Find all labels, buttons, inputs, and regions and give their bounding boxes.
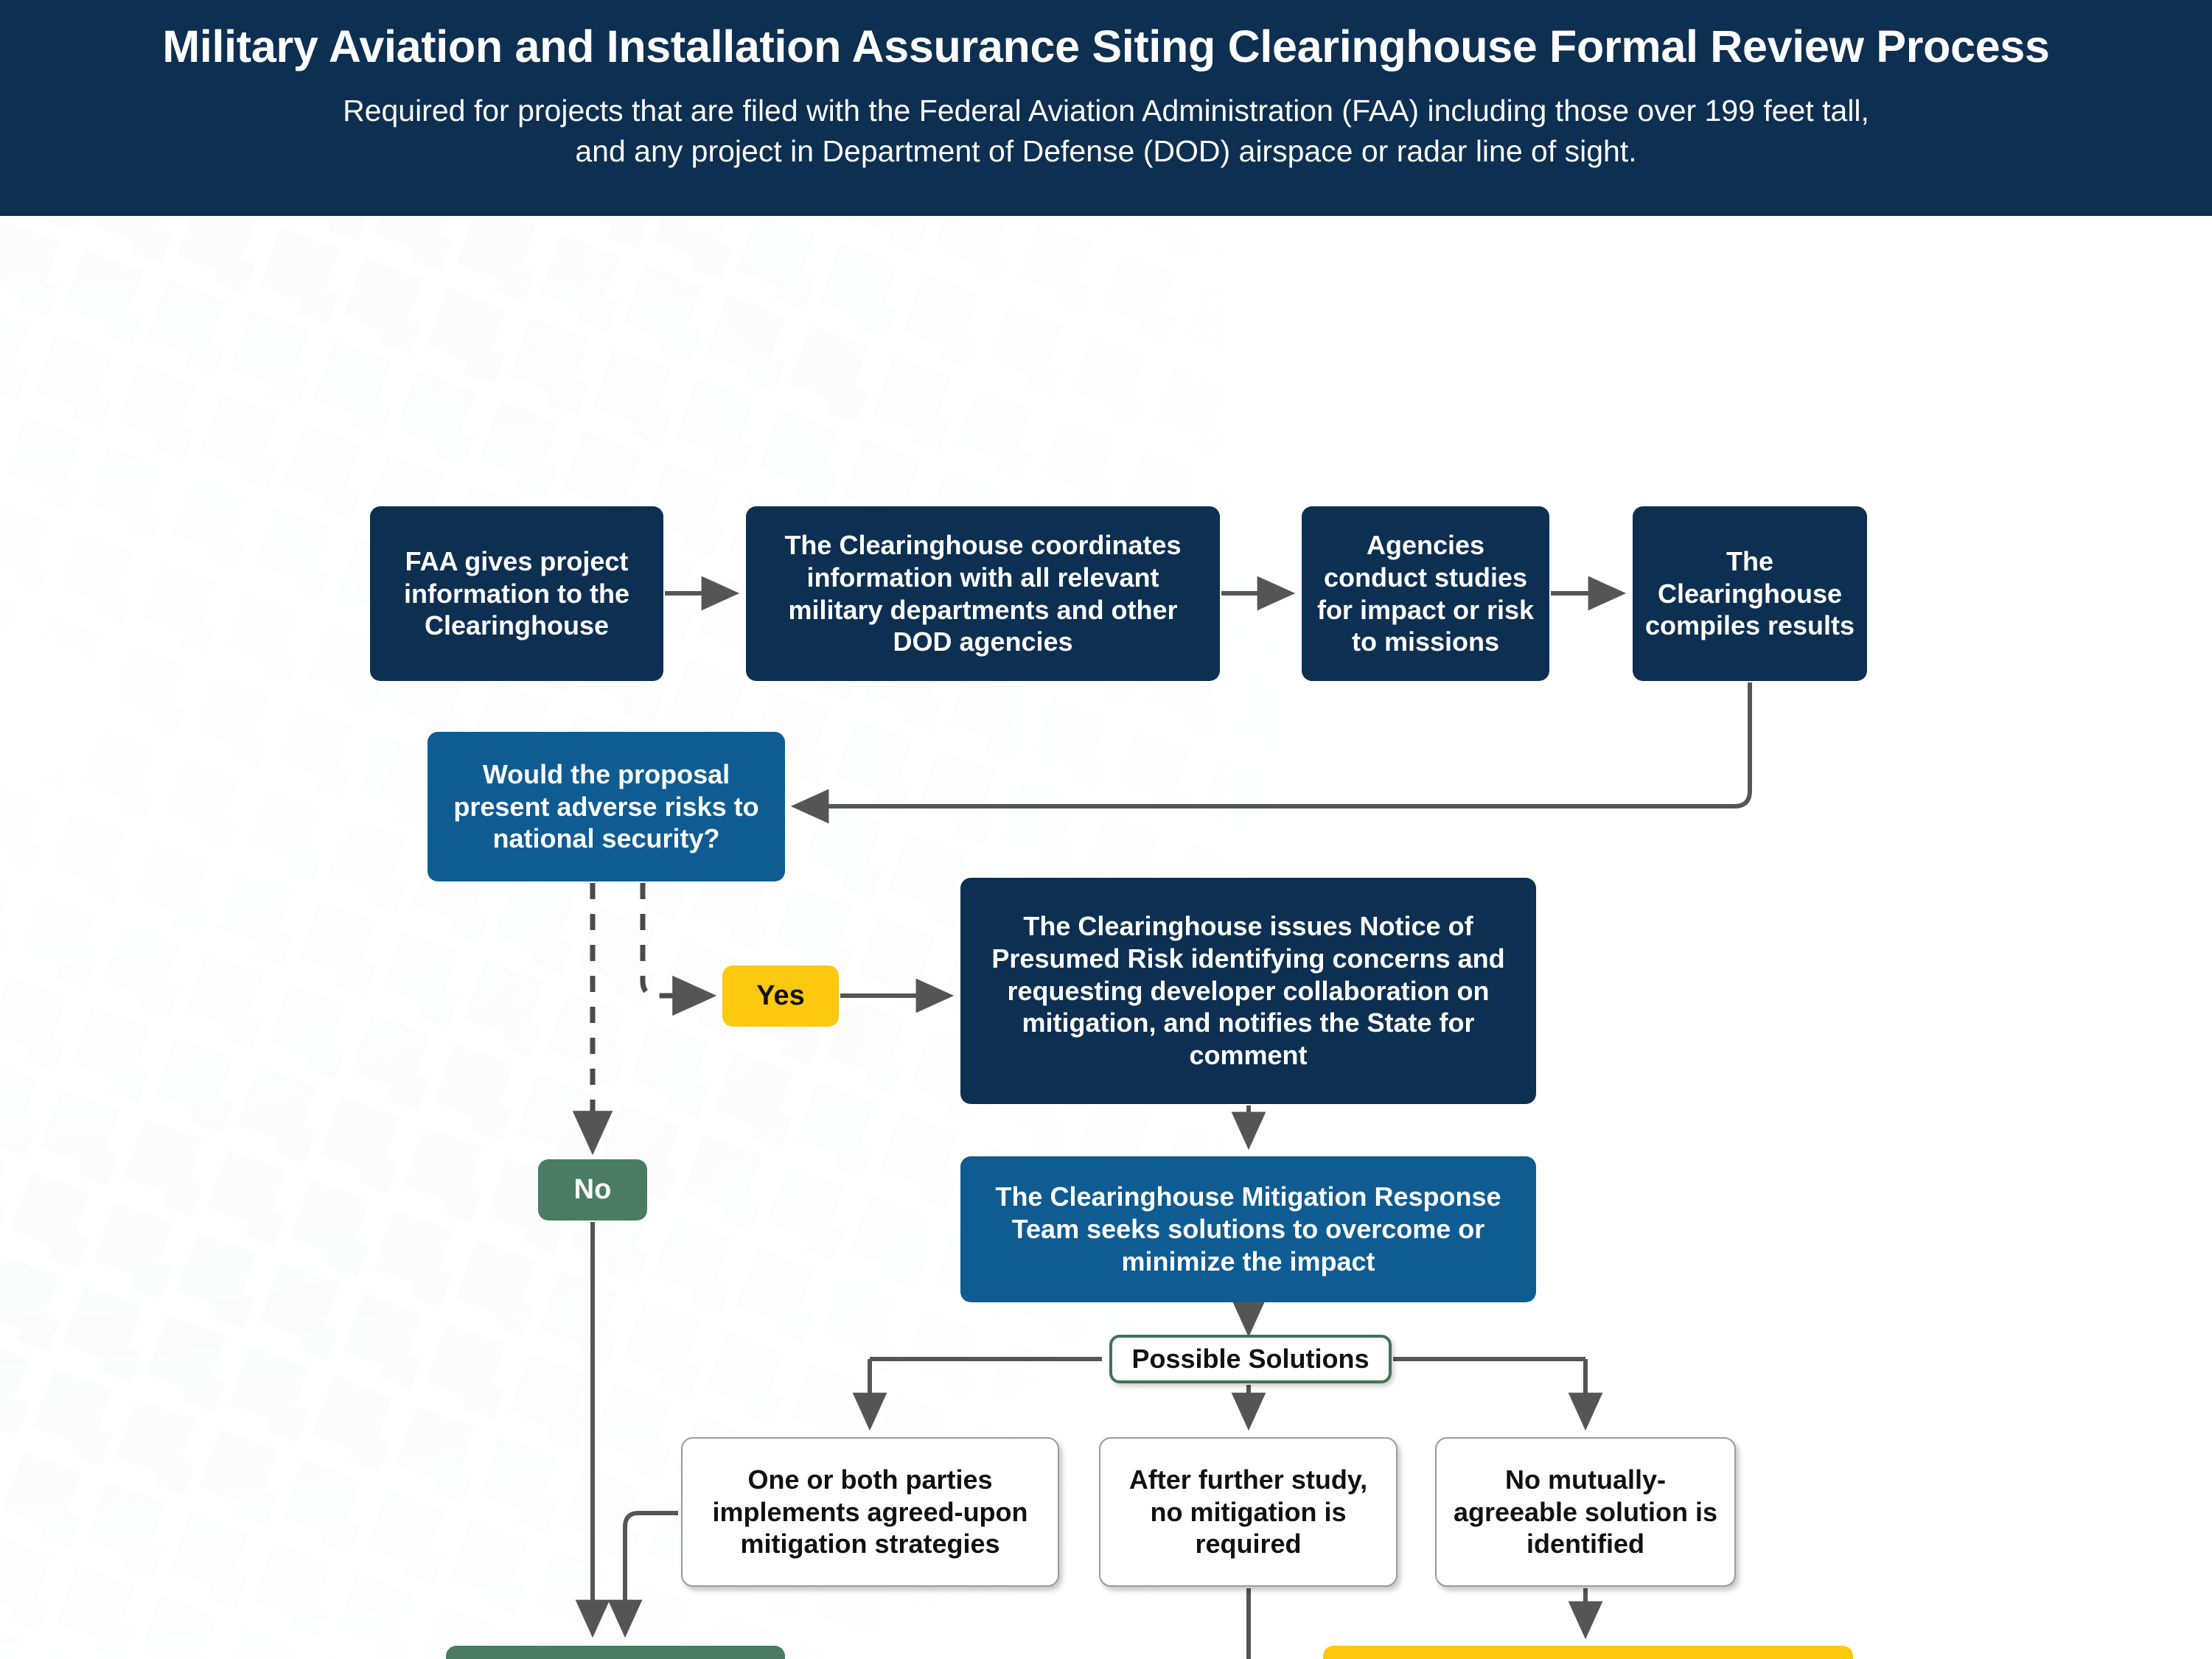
node-positive-determination-to-faa[interactable]: The Clearinghouse issues positive determ… [446, 1646, 785, 1659]
page-subtitle-line-2: and any project in Department of Defense… [343, 131, 1869, 172]
edge-solution1-to-positive [625, 1513, 678, 1632]
node-notice-of-presumed-risk[interactable]: The Clearinghouse issues Notice of Presu… [960, 878, 1536, 1104]
page-subtitle-line-1: Required for projects that are filed wit… [343, 91, 1869, 131]
node-branch-no[interactable]: No [538, 1159, 647, 1220]
node-clearinghouse-compiles-results[interactable]: The Clearinghouse compiles results [1633, 506, 1867, 681]
node-possible-solutions-label: Possible Solutions [1109, 1335, 1392, 1383]
node-solution-no-agreeable-solution[interactable]: No mutually-agreeable solution is identi… [1435, 1437, 1736, 1587]
edge-solution2-to-positive [800, 1588, 1249, 1659]
flowchart-page: Military Aviation and Installation Assur… [0, 0, 2212, 1659]
node-agencies-conduct-studies[interactable]: Agencies conduct studies for impact or r… [1302, 506, 1549, 681]
page-subtitle: Required for projects that are filed wit… [343, 91, 1869, 172]
node-solution-no-mitigation-required[interactable]: After further study, no mitigation is re… [1099, 1437, 1398, 1587]
page-title: Military Aviation and Installation Assur… [162, 22, 2049, 71]
node-branch-yes[interactable]: Yes [722, 965, 839, 1027]
node-faa-gives-project-info[interactable]: FAA gives project information to the Cle… [370, 506, 663, 681]
node-decision-adverse-risks[interactable]: Would the proposal present adverse risks… [428, 732, 785, 881]
flowchart-canvas: FAA gives project information to the Cle… [0, 216, 2212, 1659]
node-mitigation-response-team[interactable]: The Clearinghouse Mitigation Response Te… [960, 1156, 1536, 1302]
node-clearinghouse-coordinates[interactable]: The Clearinghouse coordinates informatio… [746, 506, 1220, 681]
node-solution-mitigation-strategies[interactable]: One or both parties implements agreed-up… [681, 1437, 1059, 1587]
node-leadership-review[interactable]: The Clearinghouse seeks leadership revie… [1323, 1646, 1853, 1659]
edge-compiles-to-decision [796, 682, 1750, 806]
edge-decision-to-yes-dashed [643, 883, 711, 996]
page-header: Military Aviation and Installation Assur… [0, 0, 2212, 216]
